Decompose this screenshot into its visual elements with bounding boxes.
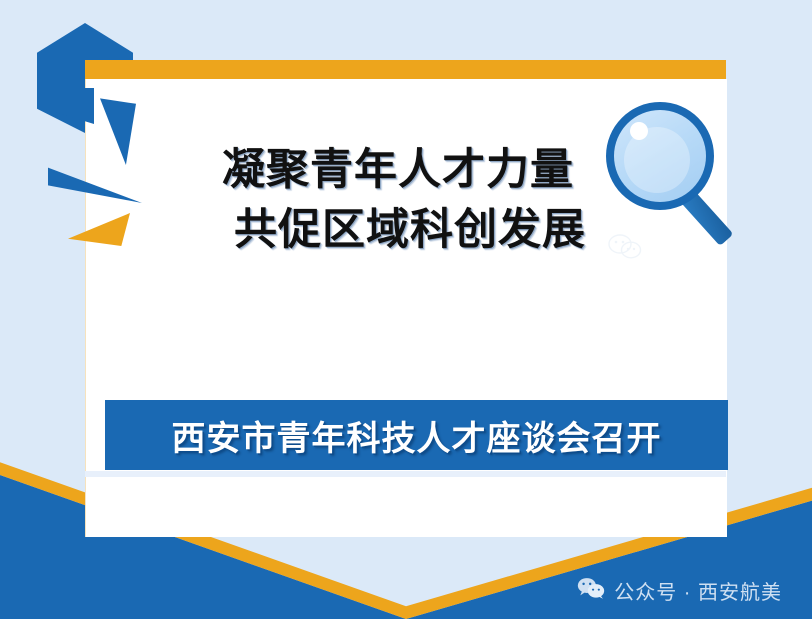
event-banner-text: 西安市青年科技人才座谈会召开 xyxy=(172,411,662,460)
wechat-watermark-icon xyxy=(608,234,642,265)
card-top-orange-bar xyxy=(85,60,726,79)
wechat-icon xyxy=(577,577,605,604)
headline-line-1: 凝聚青年人才力量 xyxy=(222,140,622,200)
event-banner: 西安市青年科技人才座谈会召开 xyxy=(105,400,728,470)
footer-account-name: 公众号 · 西安航美 xyxy=(614,576,782,605)
card-bottom-shadow-line xyxy=(85,471,726,477)
footer-attribution: 公众号 · 西安航美 xyxy=(577,576,782,605)
poster-canvas: 凝聚青年人才力量 共促区域科创发展 xyxy=(0,0,812,619)
headline-block: 凝聚青年人才力量 共促区域科创发展 xyxy=(222,140,622,260)
headline-line-2: 共促区域科创发展 xyxy=(222,200,622,260)
